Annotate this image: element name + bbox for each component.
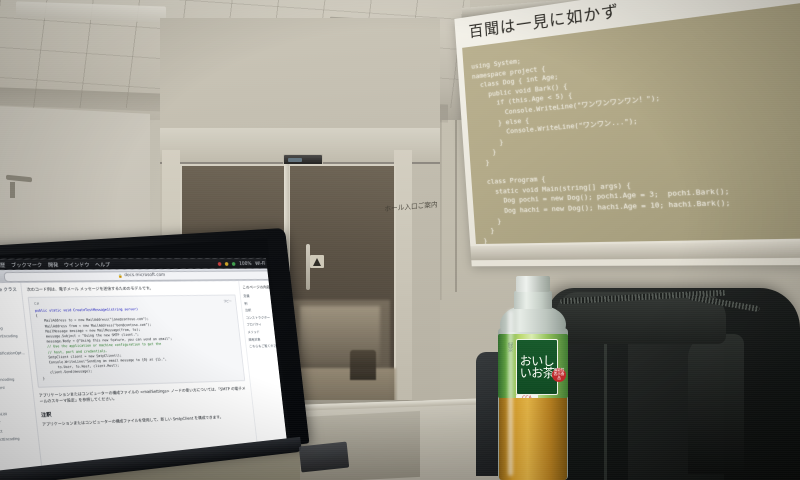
code-lines: public static void CreateTestMessage1(st… [35,306,240,382]
door-jamb-right [394,150,412,418]
projector-screen: 百聞は一見に如かず using System; namespace projec… [454,0,800,266]
menubar-status-1[interactable]: Wi-Fi [255,261,266,267]
menu-item-1[interactable]: 履歴 [0,260,6,268]
nav-item[interactable]: From [0,359,27,367]
nav-item[interactable]: BodyTransferEncoding [0,333,24,341]
status-dot-icon [232,262,236,266]
sensor-lens-icon [288,158,302,162]
nav-item[interactable]: SubjectEncoding [0,435,35,444]
bottle-badge: 機能性表示食品 [552,368,566,382]
lead-paragraph: 次のコード例は、電子メール メッセージを送信するためのモデルです。 [26,285,234,293]
bottle-label-panel: おいしいお茶 [516,339,558,395]
door-warning-sticker [310,255,324,268]
laptop: 表示履歴ブックマーク開発ウインドウヘルプ 100%Wi-Fi14:23 🔒 [0,228,313,480]
status-dot-icon [225,262,229,266]
docs-page-title: MailMessage クラス [0,287,19,295]
nav-item[interactable]: To [0,444,36,453]
backpack-strap [688,334,744,474]
nav-item[interactable]: ReplyTo [0,401,32,410]
body-paragraph-1: アプリケーションまたはコンピューターの構成ファイルの <mailSettings… [39,386,248,406]
url-text: docs.microsoft.com [124,273,165,278]
menu-item-3[interactable]: 開発 [47,260,58,268]
code-sample-block: C# コピー public static void CreateTestMess… [28,294,246,387]
nav-item[interactable]: HeadersEncoding [0,376,29,384]
menu-item-5[interactable]: ヘルプ [94,260,110,268]
code-language-label: C# [34,299,231,306]
nav-item[interactable]: BodyEncoding [0,324,23,332]
nav-item[interactable]: Attachments [0,299,20,307]
nav-item[interactable]: Bcc [0,307,21,315]
menu-item-2[interactable]: ブックマーク [10,260,42,268]
nav-item[interactable]: IsBodyHtml [0,384,30,392]
slide-code-block: using System; namespace project { class … [471,33,734,244]
interior-chair [350,350,376,380]
laptop-keyboard-deck [299,442,349,473]
nav-item[interactable]: ReplyToList [0,410,33,419]
nav-item[interactable]: Subject [0,427,34,436]
address-bar[interactable]: 🔒 docs.microsoft.com [3,270,272,282]
bottle-neck [514,291,552,309]
status-dot-icon [218,262,222,266]
nav-item[interactable]: DeliveryNotificationOptions [0,350,26,358]
menubar-status-0[interactable]: 100% [239,261,252,267]
wall-hook-stem [10,182,15,198]
menu-item-4[interactable]: ウインドウ [63,260,89,268]
lock-icon: 🔒 [118,273,123,278]
bottle-highlight [508,310,513,476]
nav-item[interactable]: Sender [0,418,34,427]
laptop-display: 表示履歴ブックマーク開発ウインドウヘルプ 100%Wi-Fi14:23 🔒 [0,258,289,473]
nav-item[interactable]: Priority [0,393,31,402]
laptop-bezel: 表示履歴ブックマーク開発ウインドウヘルプ 100%Wi-Fi14:23 🔒 [0,238,290,473]
bottle-cap[interactable] [516,276,550,292]
nav-item[interactable]: Body [0,316,22,324]
tea-bottle: 緑茶 CCA おいしいお茶 機能性表示食品 [492,276,574,480]
nav-item[interactable]: CC [0,342,25,350]
nav-item[interactable]: Headers [0,367,28,375]
photo-scene: ホール入口ご案内 百聞は一見に如かず using System; namespa… [0,0,800,480]
copy-code-button[interactable]: コピー [223,298,232,303]
bottle-label-main-text: おいしいお茶 [517,355,557,379]
warning-triangle-icon [313,258,321,266]
